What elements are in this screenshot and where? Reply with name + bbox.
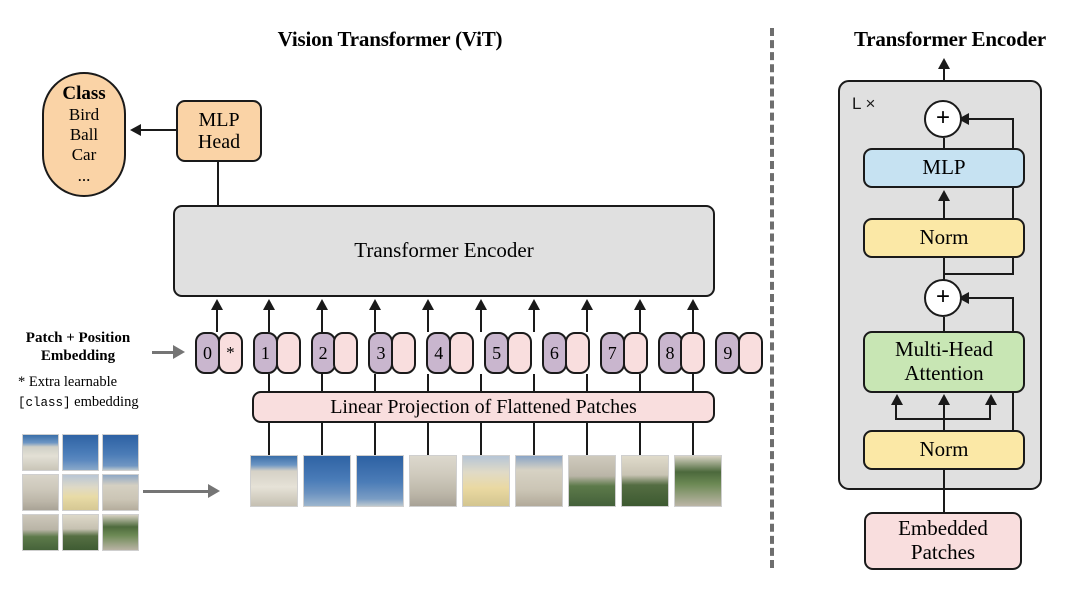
- embedded-patches-block: Embedded Patches: [864, 512, 1022, 570]
- vit-architecture-figure: Vision Transformer (ViT) Class Bird Ball…: [0, 0, 1080, 593]
- embedded-patches-line2: Patches: [911, 541, 975, 565]
- attention-qkv-arrows: [0, 0, 1080, 593]
- norm-bottom-block-label: Norm: [920, 438, 969, 462]
- embedded-patches-line1: Embedded: [898, 517, 988, 541]
- norm-bottom-block: Norm: [863, 430, 1025, 470]
- embedded-patches-to-norm-line: [943, 470, 945, 512]
